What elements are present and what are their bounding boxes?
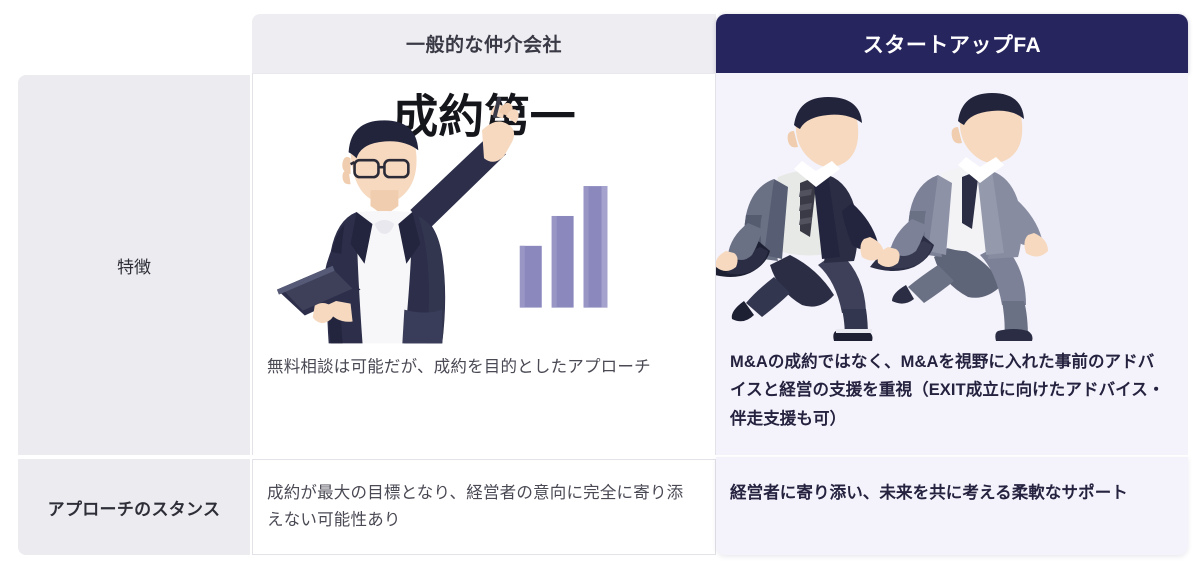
cell-generic-approach-stance: 成約が最大の目標となり、経営者の意向に完全に寄り添えない可能性あり xyxy=(252,459,716,555)
comparison-table: 一般的な仲介会社 スタートアップFA 特徴 成約第一 xyxy=(0,0,1200,572)
cell-startup-features-text: M&Aの成約ではなく、M&Aを視野に入れた事前のアドバイスと経営の支援を重視（E… xyxy=(730,348,1168,433)
illustration-running-businessmen-icon xyxy=(716,73,1188,345)
column-header-startup-label: スタートアップFA xyxy=(863,29,1041,59)
cell-generic-features-text: 無料相談は可能だが、成約を目的としたアプローチ xyxy=(267,354,701,381)
column-header-generic: 一般的な仲介会社 xyxy=(252,14,716,73)
column-header-startup: スタートアップFA xyxy=(716,14,1188,73)
cell-startup-features: M&Aの成約ではなく、M&Aを視野に入れた事前のアドバイスと経営の支援を重視（E… xyxy=(716,73,1188,455)
cell-generic-features: 成約第一 xyxy=(252,73,716,455)
illustration-businessman-writing-icon: 成約第一 xyxy=(253,74,715,346)
row-label-approach-stance: アプローチのスタンス xyxy=(18,459,250,555)
cell-startup-approach-stance: 経営者に寄り添い、未来を共に考える柔軟なサポート xyxy=(716,457,1188,555)
row-label-features: 特徴 xyxy=(18,75,250,455)
cell-generic-approach-stance-text: 成約が最大の目標となり、経営者の意向に完全に寄り添えない可能性あり xyxy=(267,480,697,533)
row-label-features-text: 特徴 xyxy=(117,253,151,278)
row-label-approach-stance-text: アプローチのスタンス xyxy=(48,495,221,520)
column-header-generic-label: 一般的な仲介会社 xyxy=(406,30,562,57)
cell-startup-approach-stance-text: 経営者に寄り添い、未来を共に考える柔軟なサポート xyxy=(730,479,1168,507)
